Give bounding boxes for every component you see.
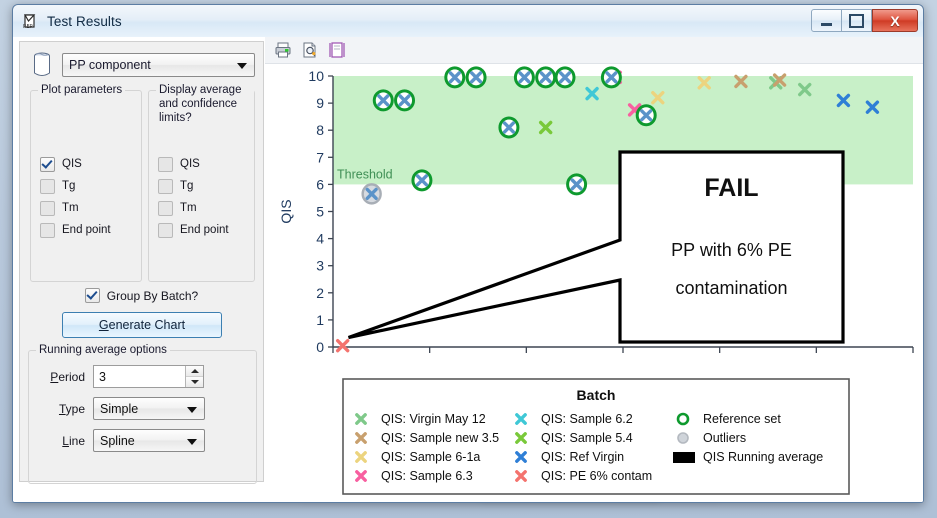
threshold-label: Threshold [337, 167, 393, 181]
display-average-legend: Display average and confidence limits? [156, 83, 254, 125]
y-tick-label: 8 [316, 122, 324, 138]
checkbox-label: Tm [180, 202, 197, 214]
generate-chart-button[interactable]: Generate Chart [62, 312, 222, 338]
period-spin-buttons [185, 366, 203, 387]
print-preview-icon[interactable] [301, 41, 319, 59]
generate-chart-label: enerate Chart [109, 318, 185, 332]
callout-line-2: contamination [675, 278, 787, 298]
checkbox-group-by-batch[interactable]: Group By Batch? [30, 288, 253, 303]
legend-entry-label: QIS: Sample 6-1a [381, 450, 480, 464]
legend-entry-label: QIS: Virgin May 12 [381, 412, 486, 426]
checkbox-icon [158, 201, 173, 216]
window-title: Test Results [47, 14, 122, 29]
checkbox-label: End point [180, 224, 229, 236]
checkbox-plot-tg[interactable]: Tg [31, 175, 141, 197]
component-dropdown-value: PP component [69, 58, 151, 72]
period-row: PPerioderiod 3 [41, 365, 256, 388]
legend-entry-label: QIS: Ref Virgin [541, 450, 624, 464]
y-tick-label: 9 [316, 95, 324, 111]
callout-line-1: PP with 6% PE [671, 240, 792, 260]
legend-entry-label: QIS: PE 6% contam [541, 469, 652, 483]
checkbox-label: QIS [62, 158, 82, 170]
svg-text:REP: REP [23, 24, 33, 30]
checkbox-icon [40, 223, 55, 238]
y-tick-label: 6 [316, 176, 324, 192]
callout-title: FAIL [704, 174, 758, 202]
chevron-down-icon [187, 439, 197, 445]
checkbox-avg-qis[interactable]: QIS [149, 153, 254, 175]
checkbox-icon [85, 288, 100, 303]
y-tick-label: 1 [316, 312, 324, 328]
checkbox-icon [40, 179, 55, 194]
y-tick-label: 10 [308, 68, 324, 84]
y-tick-label: 4 [316, 231, 324, 247]
checkbox-label: End point [62, 224, 111, 236]
line-dropdown[interactable]: Spline [93, 429, 205, 452]
plot-parameters-legend: Plot parameters [38, 83, 125, 97]
maximize-button[interactable] [842, 9, 872, 32]
y-tick-label: 3 [316, 258, 324, 274]
checkbox-label: Tg [180, 180, 193, 192]
minimize-button[interactable] [811, 9, 842, 32]
checkbox-label: Tm [62, 202, 79, 214]
y-tick-label: 2 [316, 285, 324, 301]
chart-toolbar [265, 37, 923, 64]
close-button[interactable]: X [872, 9, 918, 32]
legend-entry-label: Reference set [703, 412, 781, 426]
checkbox-label: Tg [62, 180, 75, 192]
y-tick-label: 5 [316, 204, 324, 220]
window-controls: X [811, 9, 918, 32]
checkbox-icon [158, 157, 173, 172]
checkbox-icon [158, 223, 173, 238]
chart-canvas: 012345678910QISThresholdFAILPP with 6% P… [265, 64, 919, 502]
legend-entry-label: QIS: Sample 5.4 [541, 431, 633, 445]
period-increment-button[interactable] [186, 366, 203, 376]
running-average-group: Running average options PPerioderiod 3 T… [28, 350, 257, 484]
line-row: Line Spline [41, 429, 256, 452]
generate-chart-accel: G [99, 318, 109, 332]
report-icon: REP [22, 12, 40, 30]
y-tick-label: 0 [316, 339, 324, 355]
page-setup-icon[interactable] [328, 41, 346, 59]
print-icon[interactable] [274, 41, 292, 59]
checkbox-avg-tg[interactable]: Tg [149, 175, 254, 197]
checkbox-plot-tm[interactable]: Tm [31, 197, 141, 219]
period-value: 3 [99, 370, 106, 384]
checkbox-label: Group By Batch? [107, 289, 198, 303]
chevron-down-icon [187, 407, 197, 413]
chart-pane: 012345678910QISThresholdFAILPP with 6% P… [265, 37, 923, 502]
legend-title: Batch [577, 387, 616, 403]
legend-marker-outlier [678, 433, 688, 443]
line-dropdown-value: Spline [100, 434, 135, 448]
period-stepper[interactable]: 3 [93, 365, 204, 388]
chevron-down-icon [237, 63, 247, 69]
checkbox-icon [40, 201, 55, 216]
caret-down-icon [191, 380, 199, 384]
checkbox-avg-tm[interactable]: Tm [149, 197, 254, 219]
close-icon: X [890, 13, 899, 29]
caret-up-icon [191, 369, 199, 373]
qis-scatter-chart: 012345678910QISThresholdFAILPP with 6% P… [265, 64, 920, 503]
title-bar[interactable]: REP Test Results X [13, 5, 923, 38]
plot-parameters-group: Plot parameters QIS Tg Tm [30, 90, 142, 282]
client-area: PP component Plot parameters QIS Tg [13, 37, 923, 502]
display-average-group: Display average and confidence limits? Q… [148, 90, 255, 282]
line-label: Line [41, 434, 85, 448]
checkbox-plot-endpoint[interactable]: End point [31, 219, 141, 241]
type-dropdown[interactable]: Simple [93, 397, 205, 420]
sample-jar-icon [30, 51, 54, 79]
type-label: Type [41, 402, 85, 416]
checkbox-avg-endpoint[interactable]: End point [149, 219, 254, 241]
y-tick-label: 7 [316, 149, 324, 165]
component-selector-row: PP component [20, 42, 263, 85]
type-row: Type Simple [41, 397, 256, 420]
main-window: REP Test Results X [12, 4, 924, 503]
type-dropdown-value: Simple [100, 402, 138, 416]
data-point-x [338, 341, 348, 351]
legend-entry-label: QIS: Sample 6.3 [381, 469, 473, 483]
legend-marker-running-average [673, 452, 695, 463]
legend-entry-label: Outliers [703, 431, 746, 445]
checkbox-icon [158, 179, 173, 194]
component-dropdown[interactable]: PP component [62, 53, 255, 77]
y-axis-title: QIS [278, 199, 294, 223]
legend-entry-label: QIS Running average [703, 450, 823, 464]
period-decrement-button[interactable] [186, 376, 203, 387]
checkbox-icon [40, 157, 55, 172]
checkbox-plot-qis[interactable]: QIS [31, 153, 141, 175]
period-label: PPerioderiod [41, 370, 85, 384]
checkbox-label: QIS [180, 158, 200, 170]
legend-entry-label: QIS: Sample 6.2 [541, 412, 633, 426]
legend-entry-label: QIS: Sample new 3.5 [381, 431, 499, 445]
running-average-legend: Running average options [36, 343, 170, 357]
controls-panel: PP component Plot parameters QIS Tg [19, 41, 264, 482]
